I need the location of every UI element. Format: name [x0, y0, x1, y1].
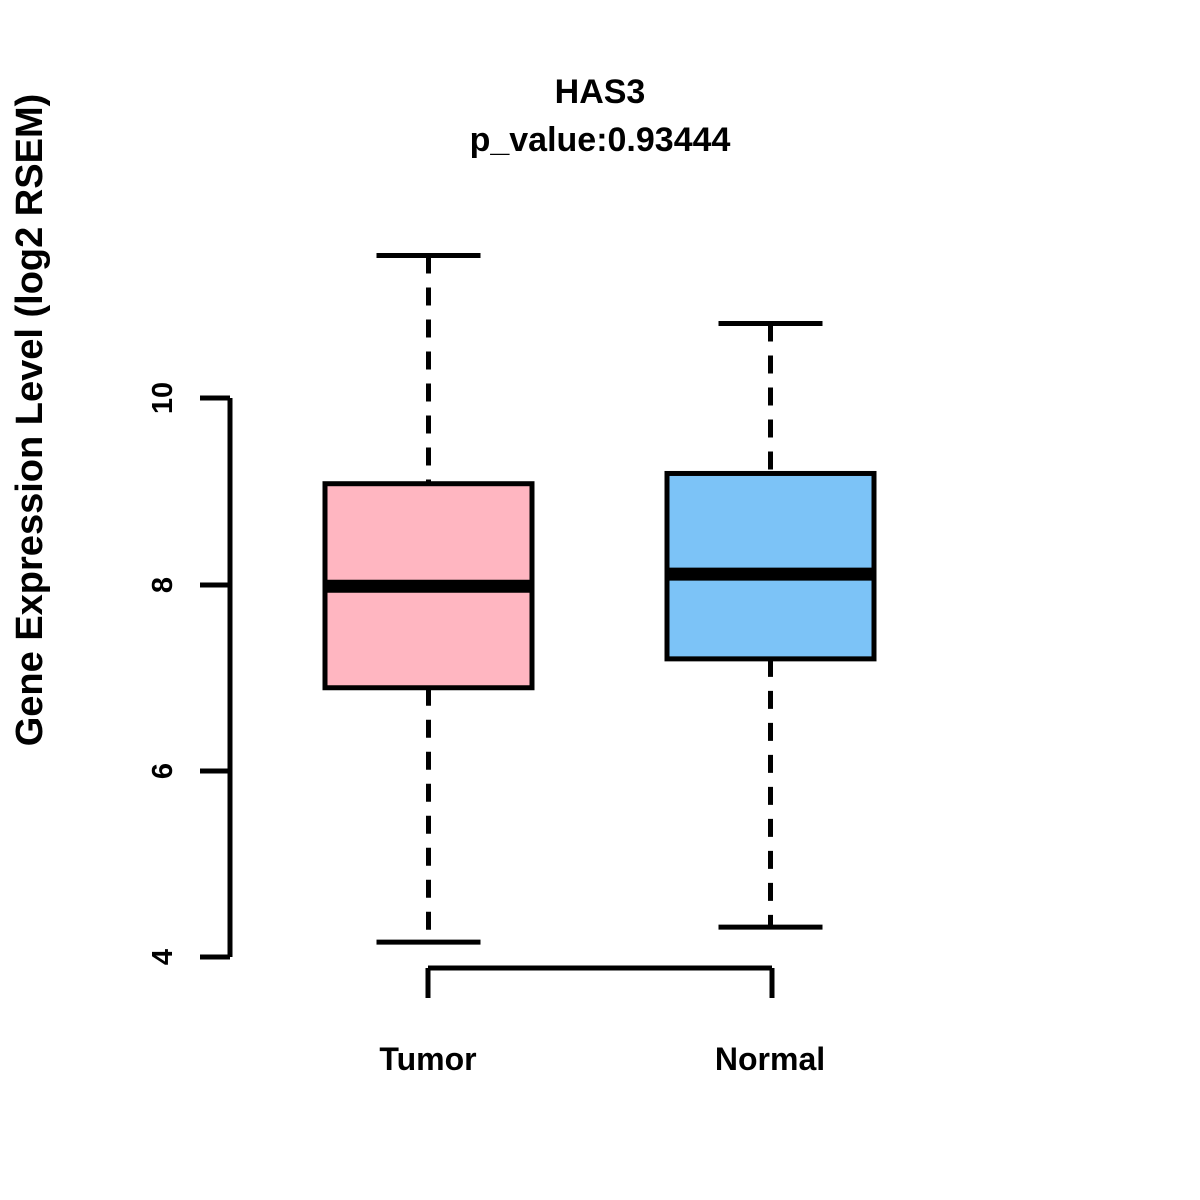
x-axis — [428, 968, 772, 998]
boxplot-figure: HAS3 p_value:0.93444 Gene Expression Lev… — [0, 0, 1200, 1200]
y-axis — [200, 398, 230, 957]
box-group-tumor — [323, 255, 535, 942]
box-body-normal[interactable] — [667, 473, 874, 658]
box-group-normal — [665, 323, 877, 927]
box-series — [323, 255, 877, 942]
plot-canvas — [0, 0, 1200, 1200]
